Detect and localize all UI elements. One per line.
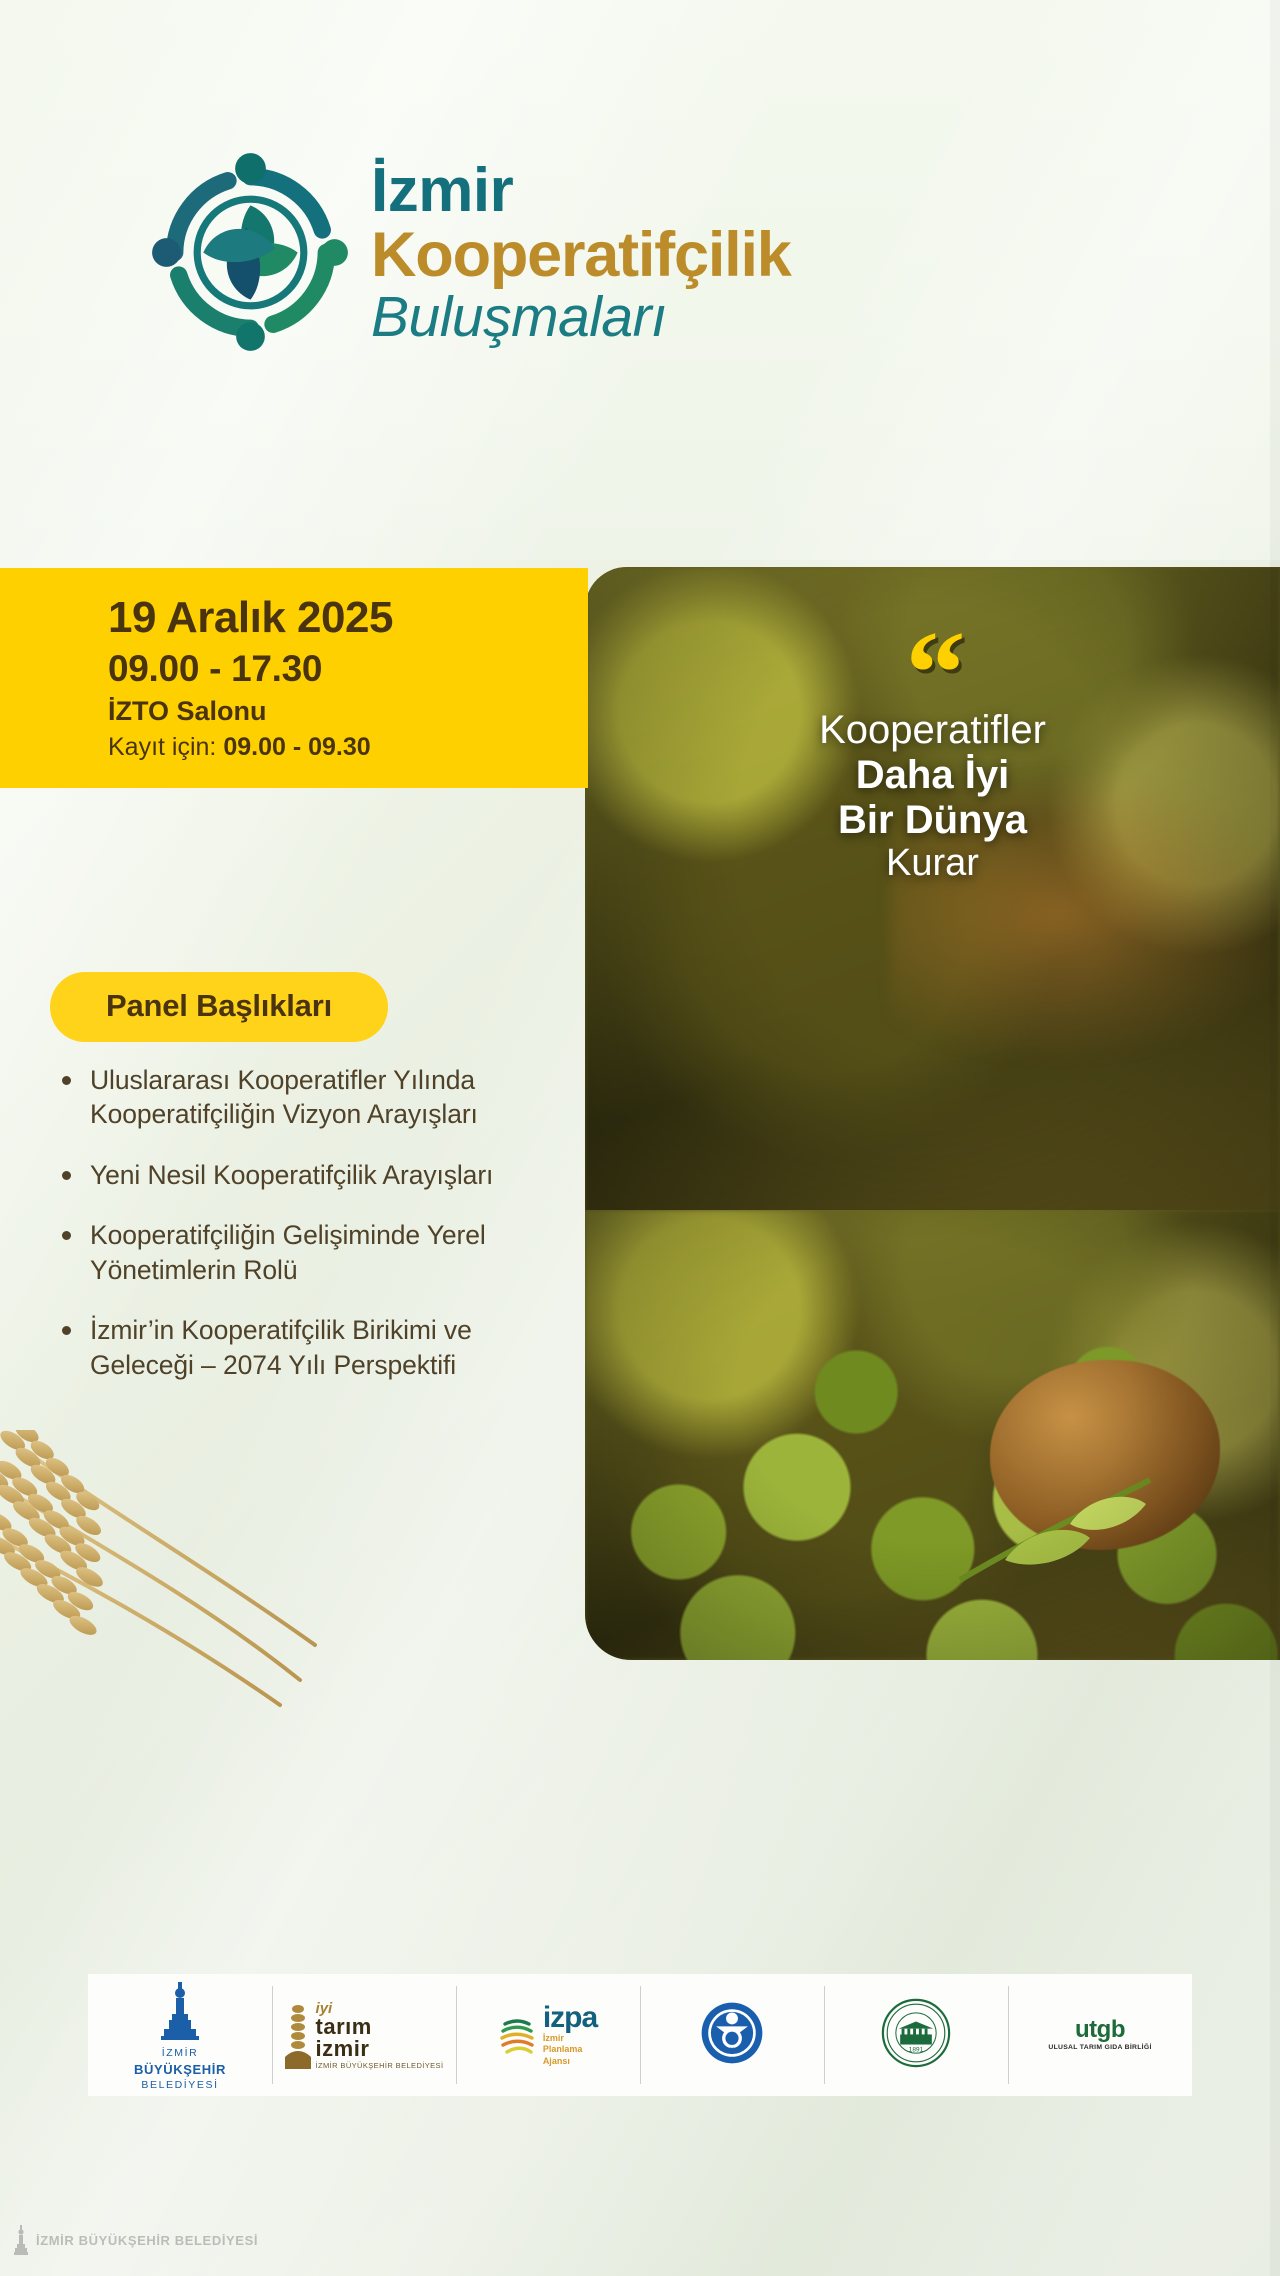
sponsor-izmir-ticaret-odasi: 1885 — [640, 1974, 824, 2096]
clock-tower-watermark-icon — [14, 2225, 28, 2255]
registration-time: 09.00 - 09.30 — [223, 733, 370, 761]
sponsor-line-3: Planlama — [543, 2044, 597, 2055]
sponsor-line-2: BÜYÜKŞEHİR — [134, 2063, 226, 2076]
watermark: İZMİR BÜYÜKŞEHİR BELEDİYESİ — [14, 2225, 258, 2255]
sponsor-line-2: İzmir — [543, 2033, 597, 2044]
sponsor-line-4: Ajansı — [543, 2056, 597, 2067]
chamber-seal-icon: 1885 — [699, 2000, 765, 2066]
list-item: Yeni Nesil Kooperatifçilik Arayışları — [56, 1158, 566, 1192]
page-scrollbar[interactable] — [1270, 0, 1280, 2276]
brand-logo: İzmir Kooperatifçilik Buluşmaları — [148, 150, 791, 355]
olive-photo-lower — [585, 1210, 1280, 1660]
brand-line-bulusmalari: Buluşmaları — [371, 289, 791, 346]
sponsor-bar: İZMİR BÜYÜKŞEHİR BELEDİYESİ iyi tarım — [88, 1974, 1192, 2096]
poster-header: İzmir Kooperatifçilik Buluşmaları — [0, 0, 1280, 565]
wheat-field-icon — [285, 2001, 311, 2069]
sponsor-line-2: ULUSAL TARIM GIDA BİRLİĞİ — [1048, 2045, 1151, 2052]
sponsor-line-3: BELEDİYESİ — [134, 2080, 226, 2091]
sponsor-izpa: izpa İzmir Planlama Ajansı — [456, 1974, 640, 2096]
list-item: Kooperatifçiliğin Gelişiminde Yerel Yöne… — [56, 1218, 566, 1287]
izpa-swoosh-icon — [499, 2012, 539, 2058]
quote-line-3: Bir Dünya — [585, 798, 1280, 843]
brand-line-izmir: İzmir — [371, 160, 791, 222]
wheat-stalks-icon — [0, 1430, 400, 1730]
sponsor-line-4: İZMİR BÜYÜKŞEHİR BELEDİYESİ — [316, 2062, 444, 2070]
watermark-text: İZMİR BÜYÜKŞEHİR BELEDİYESİ — [36, 2233, 258, 2248]
event-date: 19 Aralık 2025 — [108, 594, 548, 642]
list-item: Uluslararası Kooperatifler Yılında Koope… — [56, 1063, 566, 1132]
clock-tower-icon — [160, 1980, 200, 2040]
quote-block: “ Kooperatifler Daha İyi Bir Dünya Kurar — [585, 640, 1280, 885]
panel-headings-pill: Panel Başlıkları — [50, 972, 388, 1042]
event-venue: İZTO Salonu — [108, 694, 548, 729]
quote-line-1: Kooperatifler — [585, 708, 1280, 753]
sponsor-line-1: izpa — [543, 2003, 597, 2033]
brand-line-kooperatifcilik: Kooperatifçilik — [371, 224, 791, 287]
event-registration: Kayıt için: 09.00 - 09.30 — [108, 731, 548, 765]
sponsor-izmir-ticaret-borsasi: 1891 — [824, 1974, 1008, 2096]
quote-mark-icon: “ — [585, 640, 1280, 708]
registration-label: Kayıt için: — [108, 733, 216, 761]
brand-wordmark: İzmir Kooperatifçilik Buluşmaları — [371, 160, 791, 346]
list-item: İzmir’in Kooperatifçilik Birikimi ve Gel… — [56, 1313, 566, 1382]
event-date-band: 19 Aralık 2025 09.00 - 17.30 İZTO Salonu… — [0, 568, 588, 788]
quote-line-4: Kurar — [585, 842, 1280, 885]
sponsor-line-1: İZMİR — [134, 2048, 226, 2059]
sponsor-line-1: utgb — [1048, 2018, 1151, 2042]
poster-root: İzmir Kooperatifçilik Buluşmaları — [0, 0, 1280, 2276]
sponsor-izmir-buyuksehir-belediyesi: İZMİR BÜYÜKŞEHİR BELEDİYESİ — [88, 1974, 272, 2096]
quote-line-2: Daha İyi — [585, 753, 1280, 798]
cooperative-people-leaves-circle-logo-icon — [148, 150, 353, 355]
sponsor-iyi-tarim-izmir: iyi tarım izmir İZMİR BÜYÜKŞEHİR BELEDİY… — [272, 1974, 456, 2096]
sponsor-line-3: izmir — [316, 2038, 444, 2060]
sponsor-utgb: utgb ULUSAL TARIM GIDA BİRLİĞİ — [1008, 1974, 1192, 2096]
building-seal-icon: 1891 — [880, 1997, 952, 2069]
panel-topics-list: Uluslararası Kooperatifler Yılında Koope… — [56, 1063, 566, 1408]
event-time: 09.00 - 17.30 — [108, 646, 548, 692]
sponsor-line-2: tarım — [316, 2016, 444, 2038]
sponsor-line-2: 1891 — [909, 2047, 924, 2054]
sponsor-line-2: 1885 — [726, 2047, 738, 2053]
